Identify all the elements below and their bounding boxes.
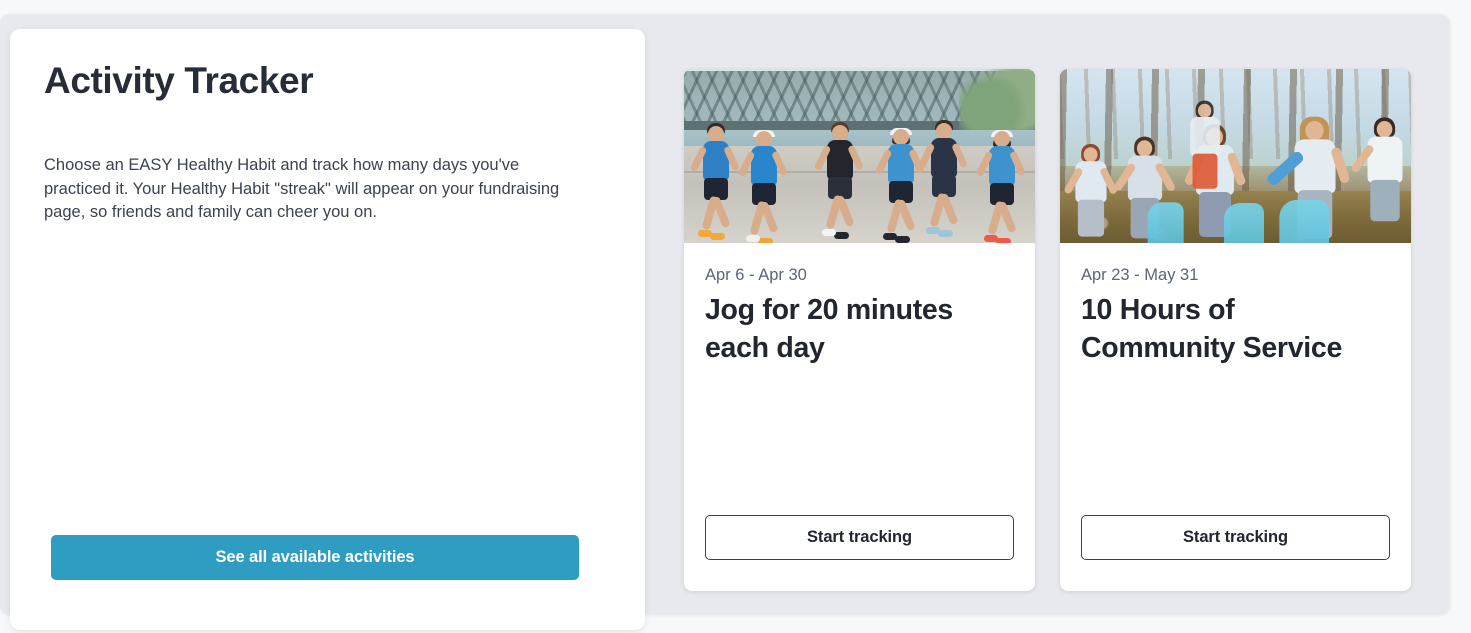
activity-card-body: Apr 6 - Apr 30 Jog for 20 minutes each d… — [705, 265, 1014, 591]
activity-card[interactable]: Apr 6 - Apr 30 Jog for 20 minutes each d… — [684, 69, 1035, 591]
start-tracking-button[interactable]: Start tracking — [1081, 515, 1390, 560]
start-tracking-button[interactable]: Start tracking — [705, 515, 1014, 560]
activity-tracker-shell: Activity Tracker Choose an EASY Healthy … — [0, 14, 1450, 614]
activity-date-range: Apr 6 - Apr 30 — [705, 265, 1014, 285]
see-all-available-activities-button[interactable]: See all available activities — [51, 535, 579, 580]
activity-title: 10 Hours of Community Service — [1081, 291, 1390, 367]
activity-card-body: Apr 23 - May 31 10 Hours of Community Se… — [1081, 265, 1390, 591]
panel-content: Activity Tracker Choose an EASY Healthy … — [44, 59, 611, 606]
page-title: Activity Tracker — [44, 59, 611, 103]
volunteers-cleanup-photo — [1060, 69, 1411, 243]
activity-card[interactable]: Apr 23 - May 31 10 Hours of Community Se… — [1060, 69, 1411, 591]
activity-date-range: Apr 23 - May 31 — [1081, 265, 1390, 285]
activity-card-list: Apr 6 - Apr 30 Jog for 20 minutes each d… — [684, 69, 1411, 591]
activity-title: Jog for 20 minutes each day — [705, 291, 1014, 367]
activity-tracker-panel: Activity Tracker Choose an EASY Healthy … — [10, 29, 645, 630]
panel-description: Choose an EASY Healthy Habit and track h… — [44, 154, 589, 225]
runners-group-photo — [684, 69, 1035, 243]
